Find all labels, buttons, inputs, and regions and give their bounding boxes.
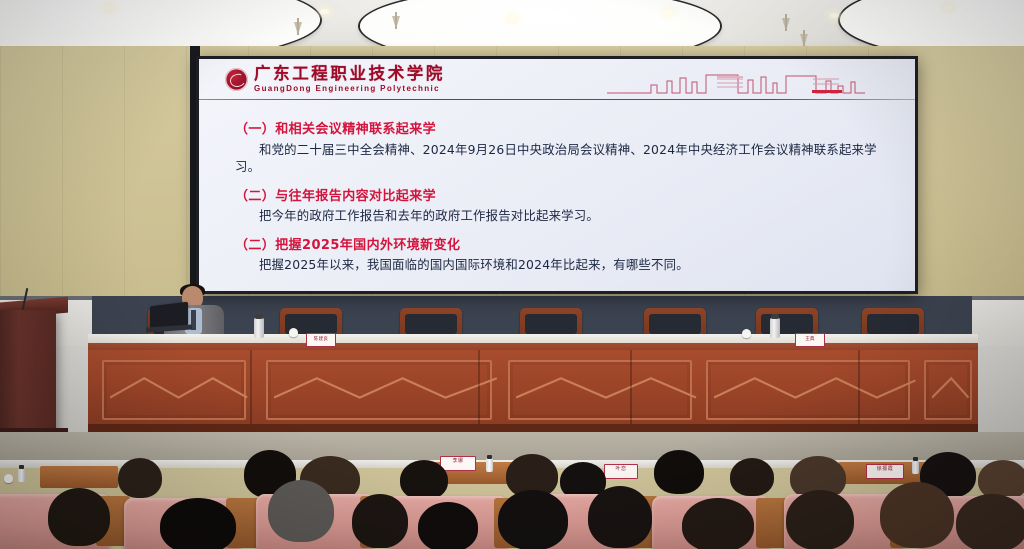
institution-name-en: GuangDong Engineering Polytechnic [254,85,445,93]
audience-head [400,460,448,500]
table-seam [250,350,252,428]
speaking-lectern [0,310,56,440]
audience-place-card: 李娜 [440,456,476,471]
lecture-hall-photo: 广东工程职业技术学院 GuangDong Engineering Polytec… [0,0,1024,549]
table-panel [924,360,972,420]
water-bottle [912,460,919,474]
slide-paragraph-1: 和党的二十届三中全会精神、2024年9月26日中央政治局会议精神、2024年中央… [235,141,889,176]
university-seal-logo [225,68,248,91]
slide-body: （一）和相关会议精神联系起来学 和党的二十届三中全会精神、2024年9月26日中… [199,107,915,291]
audience-head [654,450,704,494]
slide-header: 广东工程职业技术学院 GuangDong Engineering Polytec… [199,59,915,99]
slide-heading-3: （二）把握2025年国内外环境新变化 [235,237,889,255]
campus-skyline-line-art [607,69,907,95]
slide-paragraph-2: 把今年的政府工作报告和去年的政府工作报告对比起来学习。 [235,207,889,225]
downlight [830,13,839,18]
slide-paragraph-3: 把握2025年以来，我国面临的国内国际环境和2024年比起来，有哪些不同。 [235,256,889,274]
table-seam [630,350,632,428]
downlight [944,5,953,10]
table-panel [508,360,692,420]
thermos [254,318,264,338]
audience-desk [40,466,118,488]
institution-name-cn: 广东工程职业技术学院 [254,66,445,83]
audience-head [160,498,236,549]
downlight [105,6,114,11]
downlight [508,16,517,21]
audience-head [48,488,110,546]
projection-screen: 广东工程职业技术学院 GuangDong Engineering Polytec… [196,56,918,294]
audience-head [588,486,652,548]
audience-head [418,502,478,549]
water-bottle [18,468,25,482]
table-panel [102,360,246,420]
teacup [4,474,13,483]
table-nameplate: 陈建良 [306,333,336,347]
slide-block-1: （一）和相关会议精神联系起来学 和党的二十届三中全会精神、2024年9月26日中… [235,121,889,176]
header-divider [199,99,915,100]
teacup [289,328,298,337]
audience-head [786,490,854,549]
presidium-table-front [88,350,978,428]
table-panel [706,360,910,420]
audience-head [118,458,162,498]
table-panel [266,360,492,420]
pendant-cone [392,16,400,29]
audience-head [682,498,754,549]
slide-heading-1: （一）和相关会议精神联系起来学 [235,121,889,139]
pendant-cone [294,22,302,35]
audience-head [730,458,774,496]
slide-heading-2: （二）与往年报告内容对比起来学 [235,188,889,206]
downlight [664,10,673,15]
downlight [320,9,329,14]
audience-head [498,490,568,549]
audience-head [352,494,408,548]
audience-head [956,494,1024,549]
presidium-table-bottom [88,424,978,432]
table-nameplate: 王典 [795,333,825,347]
pendant-cone [782,18,790,31]
institution-branding: 广东工程职业技术学院 GuangDong Engineering Polytec… [225,66,445,93]
water-bottle [486,458,493,472]
audience-place-card: 叶恋 [604,464,638,479]
table-seam [478,350,480,428]
seated-audience: 李娜 叶恋 徐振霞 [0,432,1024,549]
audience-head [268,480,334,542]
table-seam [858,350,860,428]
teacup [742,329,751,338]
thermos [770,318,780,338]
audience-place-card: 徐振霞 [866,464,904,479]
audience-head [880,482,954,548]
slide-block-2: （二）与往年报告内容对比起来学 把今年的政府工作报告和去年的政府工作报告对比起来… [235,188,889,225]
slide-block-3: （二）把握2025年国内外环境新变化 把握2025年以来，我国面临的国内国际环境… [235,237,889,274]
